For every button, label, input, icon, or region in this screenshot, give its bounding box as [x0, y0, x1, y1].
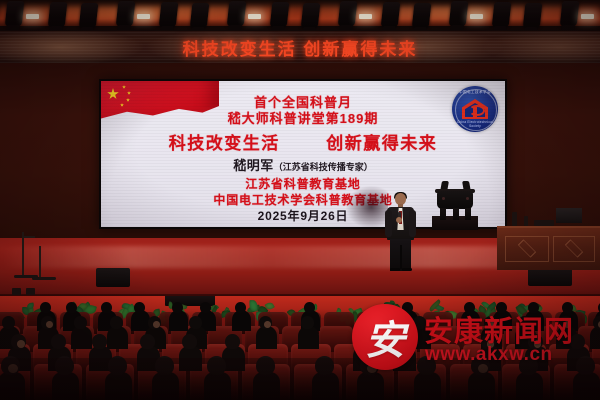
stage-light: [560, 1, 580, 27]
stage-light: [492, 2, 512, 28]
podium-microphone: [524, 216, 528, 226]
audience-head: [225, 334, 240, 349]
stage-prop: [26, 288, 35, 295]
podium-laptop: [556, 208, 582, 223]
audience-head: [235, 302, 246, 313]
stage-light: [79, 3, 99, 29]
mic-stand-pole: [39, 246, 41, 278]
watermark: 安 安康新闻网 www.akxw.cn: [352, 302, 596, 380]
stage-light: [227, 1, 247, 27]
stage-floor-monitor: [528, 268, 572, 286]
ding-body: [437, 191, 473, 209]
audience-head: [140, 334, 155, 349]
audience-torso: [256, 326, 277, 349]
stage-light: [5, 1, 25, 27]
stage-light: [449, 1, 469, 27]
audience-torso: [71, 326, 92, 349]
audience-face: [46, 321, 53, 328]
slide-line-2: 嵇大师科普讲堂第189期: [101, 108, 505, 127]
plant-leaf: [250, 301, 258, 312]
slide-speaker-line: 嵇明军（江苏省科技传播专家）: [101, 155, 505, 174]
stage-light: [159, 2, 179, 28]
presenter-hand: [396, 217, 402, 223]
stage-light-beam: [248, 14, 261, 19]
stage-light: [338, 1, 358, 27]
audience-head: [301, 316, 314, 329]
stage-light: [412, 3, 432, 29]
audience-face: [17, 340, 25, 348]
audience-head: [101, 302, 112, 313]
audience-head: [110, 316, 123, 329]
presenter: [382, 193, 418, 271]
led-banner-text: 科技改变生活 创新赢得未来: [0, 31, 600, 63]
watermark-logo-glyph: 安: [352, 304, 418, 370]
ding-leg: [440, 208, 446, 220]
stage-light: [270, 2, 290, 28]
audience-head: [304, 302, 315, 313]
slide-main-title: 科技改变生活 创新赢得未来: [101, 129, 505, 154]
stage-light: [301, 3, 321, 29]
stage-light: [190, 3, 210, 29]
ding-ornament: [466, 197, 469, 200]
stage-light-beam: [26, 14, 39, 19]
stage-prop: [12, 288, 21, 295]
slide-title-right: 创新赢得未来: [326, 134, 437, 153]
stage-light: [48, 2, 68, 28]
stage-light-beam: [137, 14, 150, 19]
stage-floor-monitor: [96, 268, 130, 287]
audience-head: [172, 302, 183, 313]
podium-microphone: [512, 212, 517, 226]
watermark-url: www.akxw.cn: [425, 344, 597, 366]
stage-light-beam: [359, 14, 372, 19]
audience-torso: [107, 326, 128, 349]
podium-equipment: [534, 220, 554, 226]
slide-speaker-affiliation: （江苏省科技传播专家）: [274, 162, 373, 172]
led-banner: 科技改变生活 创新赢得未来: [0, 31, 600, 63]
audience-face: [153, 321, 160, 328]
audience-torso: [298, 326, 319, 349]
presenter-arm-right: [409, 210, 416, 237]
control-podium: [497, 226, 600, 270]
stage-light: [381, 2, 401, 28]
slide-speaker-name: 嵇明军: [233, 158, 274, 173]
mic-stand-base: [32, 277, 56, 280]
presenter-shoe: [402, 268, 412, 271]
mic-stand-arm: [22, 236, 35, 238]
auditorium-photo: 科技改变生活 创新赢得未来 中国电工技术学会 China Electrotech…: [0, 0, 600, 400]
audience-torso: [232, 310, 251, 331]
audience-head: [2, 316, 15, 329]
ding-leg: [465, 208, 471, 220]
audience-head: [134, 302, 145, 313]
presenter-shoe: [390, 268, 400, 271]
audience-head: [66, 302, 77, 313]
ding-leg: [453, 208, 459, 220]
stage-light: [116, 1, 136, 27]
audience-head: [74, 316, 87, 329]
audience-head: [92, 334, 107, 349]
audience-torso: [169, 310, 188, 331]
audience-head: [182, 334, 197, 349]
audience-head: [200, 302, 211, 313]
audience-head: [40, 302, 51, 313]
audience-head: [51, 334, 66, 349]
bronze-ding-statue: [430, 181, 480, 219]
audience-head: [189, 316, 202, 329]
stage-light-beam: [470, 14, 483, 19]
stage-light-beam: [581, 14, 594, 19]
mic-stand-pole: [22, 232, 24, 276]
presenter-arm-left: [385, 210, 392, 237]
presenter-leg-gap: [400, 245, 402, 269]
microphone-stand: [32, 246, 56, 280]
stage-light: [523, 3, 543, 29]
slide-title-left: 科技改变生活: [169, 134, 280, 153]
audience-face: [264, 321, 271, 328]
ding-ornament: [442, 197, 445, 200]
